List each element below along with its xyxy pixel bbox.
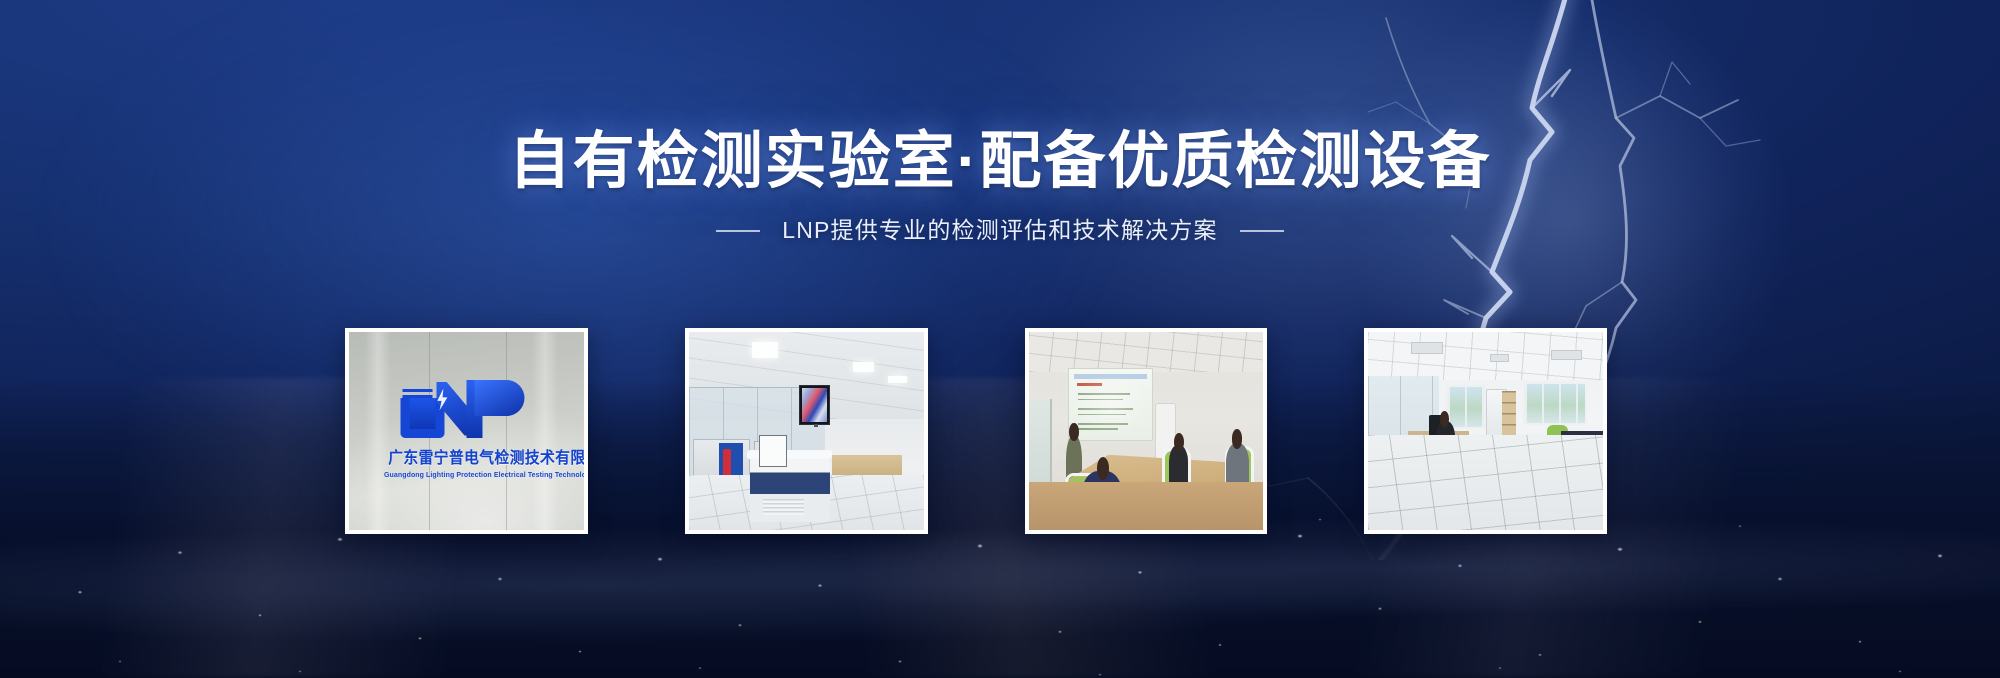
photo-meeting-room[interactable] (1025, 328, 1268, 534)
photo-office-area-image (1368, 332, 1603, 530)
banner-subtitle: LNP提供专业的检测评估和技术解决方案 (782, 219, 1218, 242)
photo-testing-laboratory[interactable] (685, 328, 928, 534)
company-name-en: Guangdong Lighting Protection Electrical… (384, 470, 548, 479)
photo-gallery: 广东雷宁普电气检测技术有限公司 Guangdong Lighting Prote… (305, 312, 1647, 550)
dash-right-icon (1240, 230, 1284, 232)
lnp-logo-icon (382, 380, 551, 438)
company-name-cn: 广东雷宁普电气检测技术有限公司 (389, 444, 544, 468)
headline-block: 自有检测实验室·配备优质检测设备 LNP提供专业的检测评估和技术解决方案 (0, 131, 2000, 242)
banner-title: 自有检测实验室·配备优质检测设备 (0, 131, 2000, 193)
photo-meeting-room-image (1029, 332, 1264, 530)
dash-left-icon (716, 230, 760, 232)
banner-hero: 自有检测实验室·配备优质检测设备 LNP提供专业的检测评估和技术解决方案 (0, 0, 2000, 678)
company-logo: 广东雷宁普电气检测技术有限公司 Guangdong Lighting Prote… (382, 380, 551, 479)
subtitle-row: LNP提供专业的检测评估和技术解决方案 (0, 219, 2000, 242)
photo-testing-laboratory-image (689, 332, 924, 530)
photo-company-sign[interactable]: 广东雷宁普电气检测技术有限公司 Guangdong Lighting Prote… (345, 328, 588, 534)
photo-office-area[interactable] (1364, 328, 1607, 534)
photo-company-sign-image: 广东雷宁普电气检测技术有限公司 Guangdong Lighting Prote… (349, 332, 584, 530)
wall-monitor-icon (799, 385, 830, 425)
